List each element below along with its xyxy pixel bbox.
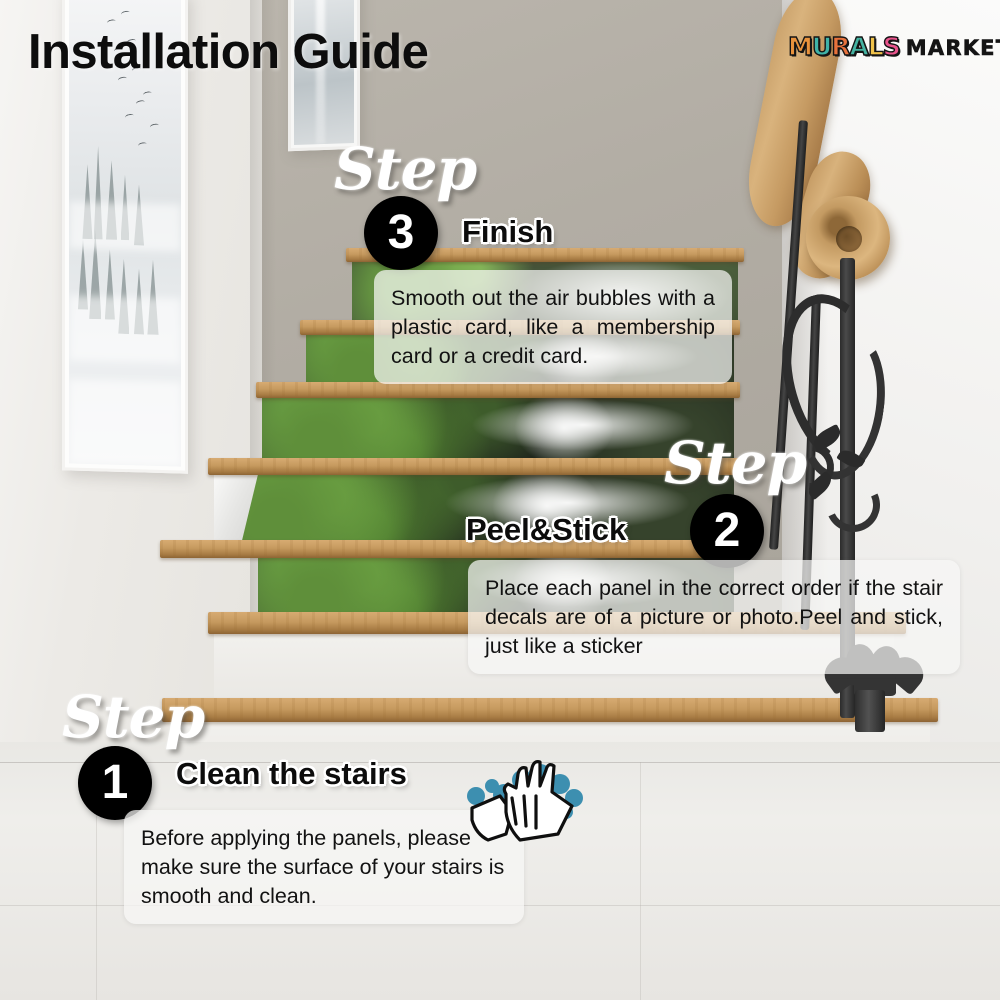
hand-and-cloth-shape (472, 762, 572, 840)
page-title: Installation Guide (28, 24, 428, 80)
step-3-word: Step (334, 140, 476, 198)
step-1-badge: 1 (78, 746, 152, 820)
logo-letter-1: U (812, 34, 831, 59)
step-1-word: Step (62, 688, 204, 746)
step-3-badge: 3 (364, 196, 438, 270)
step-1-heading: Clean the stairs (176, 756, 407, 792)
logo-market-word: MARKET (906, 36, 1000, 60)
step-2-badge: 2 (690, 494, 764, 568)
step-1-body-text: Before applying the panels, please make … (141, 826, 504, 908)
step-3-body: Smooth out the air bubbles with a plasti… (374, 270, 732, 384)
hand-wiping-cloth-icon (462, 752, 588, 848)
brand-logo[interactable]: MURALS MARKET (788, 34, 1000, 60)
guide-overlay: Installation Guide MURALS MARKET Step 3 … (0, 0, 1000, 1000)
step-3-heading: Finish (462, 214, 553, 250)
step-2-heading: Peel&Stick (466, 512, 626, 548)
logo-letter-0: M (788, 34, 812, 59)
logo-letter-3: A (849, 34, 867, 59)
step-2-word: Step (664, 434, 806, 492)
logo-murals-word: MURALS (788, 34, 900, 59)
logo-letter-5: S (883, 34, 900, 59)
step-2-body-text: Place each panel in the correct order if… (485, 574, 943, 660)
step-2-body: Place each panel in the correct order if… (468, 560, 960, 674)
step-3-body-text: Smooth out the air bubbles with a plasti… (391, 284, 715, 370)
logo-letter-4: L (868, 34, 883, 59)
logo-letter-2: R (831, 34, 849, 59)
